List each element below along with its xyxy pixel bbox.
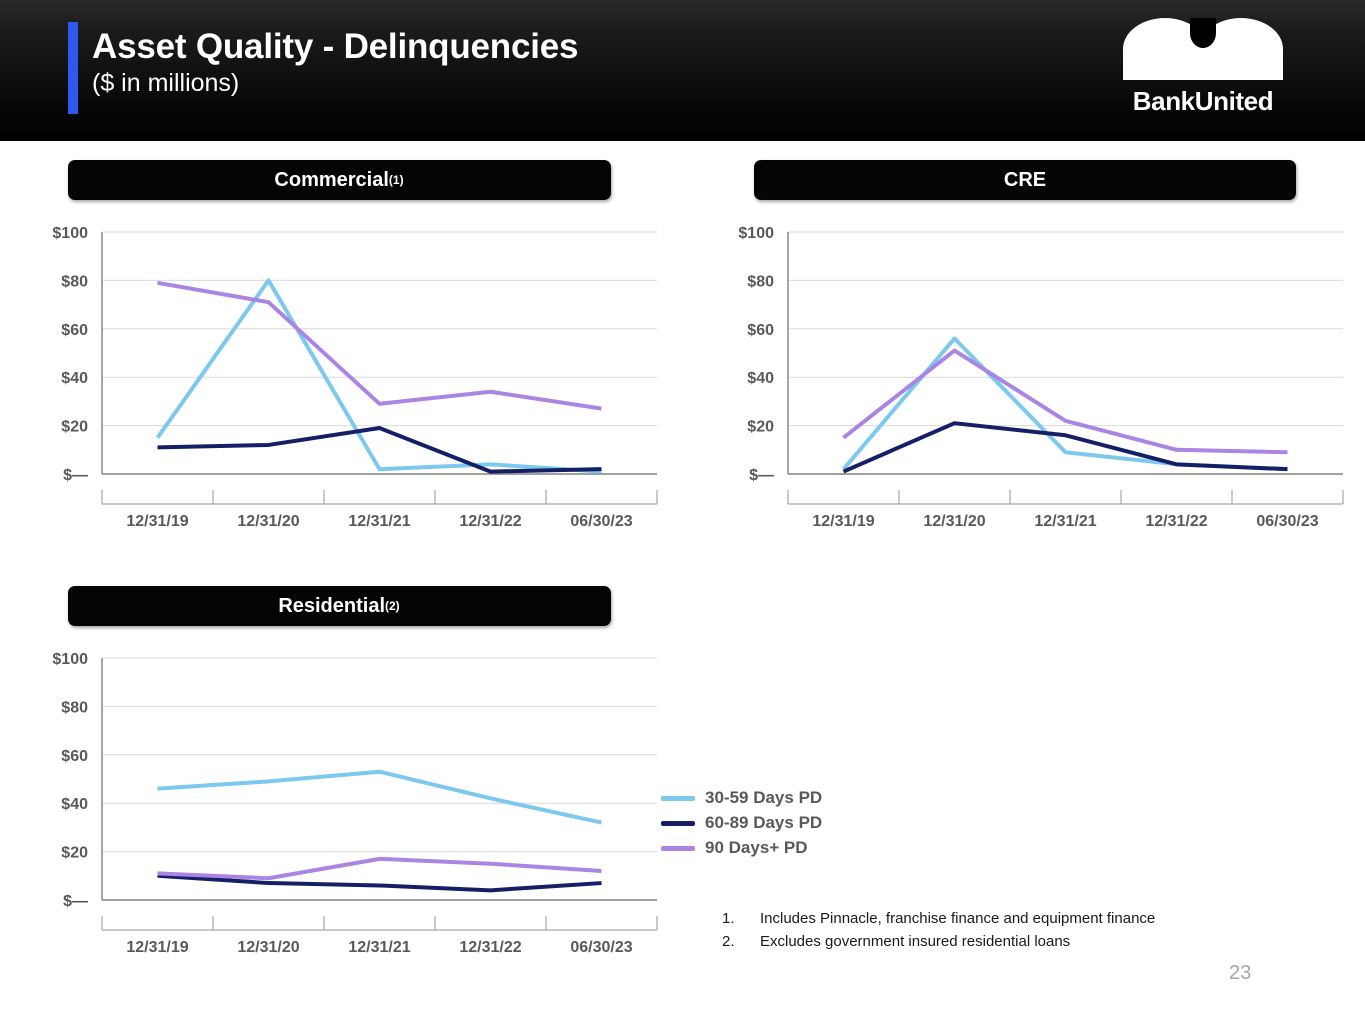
svg-text:12/31/22: 12/31/22: [459, 513, 521, 530]
chart-title-text: Residential: [278, 595, 385, 618]
chart-panel-commercial: Commercial(1) $—$20$40$60$80$10012/31/19…: [14, 160, 664, 560]
chart-title-superscript: (1): [389, 173, 404, 187]
svg-text:12/31/20: 12/31/20: [923, 513, 985, 530]
svg-text:$20: $20: [61, 419, 88, 436]
chart-title-commercial: Commercial(1): [68, 160, 611, 200]
svg-text:12/31/22: 12/31/22: [459, 939, 521, 956]
legend-label: 60-89 Days PD: [705, 813, 822, 833]
footnote-number: 1.: [722, 908, 760, 931]
svg-text:12/31/20: 12/31/20: [237, 513, 299, 530]
svg-text:12/31/20: 12/31/20: [237, 939, 299, 956]
svg-text:$80: $80: [61, 273, 88, 290]
footnote-text: Includes Pinnacle, franchise finance and…: [760, 908, 1222, 931]
svg-text:06/30/23: 06/30/23: [1256, 513, 1318, 530]
svg-text:$80: $80: [747, 273, 774, 290]
svg-text:12/31/21: 12/31/21: [348, 939, 410, 956]
svg-text:$20: $20: [61, 845, 88, 862]
svg-text:$100: $100: [738, 225, 774, 242]
chart-title-residential: Residential(2): [68, 586, 611, 626]
svg-text:12/31/19: 12/31/19: [126, 939, 188, 956]
logo-notch: [1190, 18, 1216, 48]
chart-canvas-cre: $—$20$40$60$80$10012/31/1912/31/2012/31/…: [700, 224, 1350, 544]
chart-canvas-residential: $—$20$40$60$80$10012/31/1912/31/2012/31/…: [14, 650, 664, 970]
chart-title-text: Commercial: [274, 169, 389, 192]
footnote-number: 2.: [722, 931, 760, 954]
chart-title-superscript: (2): [385, 599, 400, 613]
svg-text:12/31/19: 12/31/19: [812, 513, 874, 530]
svg-text:$20: $20: [747, 419, 774, 436]
svg-text:06/30/23: 06/30/23: [570, 513, 632, 530]
line-chart-residential: $—$20$40$60$80$10012/31/1912/31/2012/31/…: [14, 650, 664, 970]
chart-panel-residential: Residential(2) $—$20$40$60$80$10012/31/1…: [14, 586, 664, 986]
svg-text:$40: $40: [747, 370, 774, 387]
svg-text:$100: $100: [52, 651, 88, 668]
svg-text:06/30/23: 06/30/23: [570, 939, 632, 956]
svg-text:12/31/22: 12/31/22: [1145, 513, 1207, 530]
legend-label: 30-59 Days PD: [705, 788, 822, 808]
svg-text:$60: $60: [61, 322, 88, 339]
svg-text:$40: $40: [61, 370, 88, 387]
legend-label: 90 Days+ PD: [705, 838, 808, 858]
svg-text:$—: $—: [63, 893, 88, 910]
legend-item-30-59: 30-59 Days PD: [661, 786, 822, 810]
slide-header: Asset Quality - Delinquencies ($ in mill…: [0, 0, 1365, 141]
legend-item-90-plus: 90 Days+ PD: [661, 836, 822, 860]
svg-text:$—: $—: [749, 467, 774, 484]
footnote-text: Excludes government insured residential …: [760, 931, 1222, 954]
svg-text:$80: $80: [61, 699, 88, 716]
chart-title-cre: CRE: [754, 160, 1296, 200]
bankunited-arch-logo-icon: [1123, 18, 1283, 80]
chart-canvas-commercial: $—$20$40$60$80$10012/31/1912/31/2012/31/…: [14, 224, 664, 544]
logo-wordmark: BankUnited: [1113, 86, 1293, 117]
svg-text:$60: $60: [747, 322, 774, 339]
svg-text:12/31/21: 12/31/21: [348, 513, 410, 530]
line-chart-commercial: $—$20$40$60$80$10012/31/1912/31/2012/31/…: [14, 224, 664, 544]
footnotes: 1. Includes Pinnacle, franchise finance …: [722, 908, 1222, 953]
chart-legend: 30-59 Days PD 60-89 Days PD 90 Days+ PD: [661, 786, 822, 861]
svg-text:$—: $—: [63, 467, 88, 484]
svg-text:12/31/19: 12/31/19: [126, 513, 188, 530]
footnote-item: 2. Excludes government insured residenti…: [722, 931, 1222, 954]
page-title: Asset Quality - Delinquencies: [92, 28, 578, 66]
page-subtitle: ($ in millions): [92, 68, 578, 99]
slide-page-number: 23: [1229, 962, 1251, 985]
legend-swatch-icon: [661, 821, 695, 826]
svg-text:12/31/21: 12/31/21: [1034, 513, 1096, 530]
svg-text:$100: $100: [52, 225, 88, 242]
legend-swatch-icon: [661, 846, 695, 851]
title-block: Asset Quality - Delinquencies ($ in mill…: [92, 28, 578, 99]
footnote-item: 1. Includes Pinnacle, franchise finance …: [722, 908, 1222, 931]
chart-panel-cre: CRE $—$20$40$60$80$10012/31/1912/31/2012…: [700, 160, 1350, 560]
line-chart-cre: $—$20$40$60$80$10012/31/1912/31/2012/31/…: [700, 224, 1350, 544]
legend-item-60-89: 60-89 Days PD: [661, 811, 822, 835]
svg-text:$40: $40: [61, 796, 88, 813]
svg-text:$60: $60: [61, 748, 88, 765]
legend-swatch-icon: [661, 796, 695, 801]
chart-title-text: CRE: [1004, 169, 1046, 192]
bankunited-logo: BankUnited: [1113, 18, 1293, 126]
title-accent-bar: [68, 22, 78, 114]
